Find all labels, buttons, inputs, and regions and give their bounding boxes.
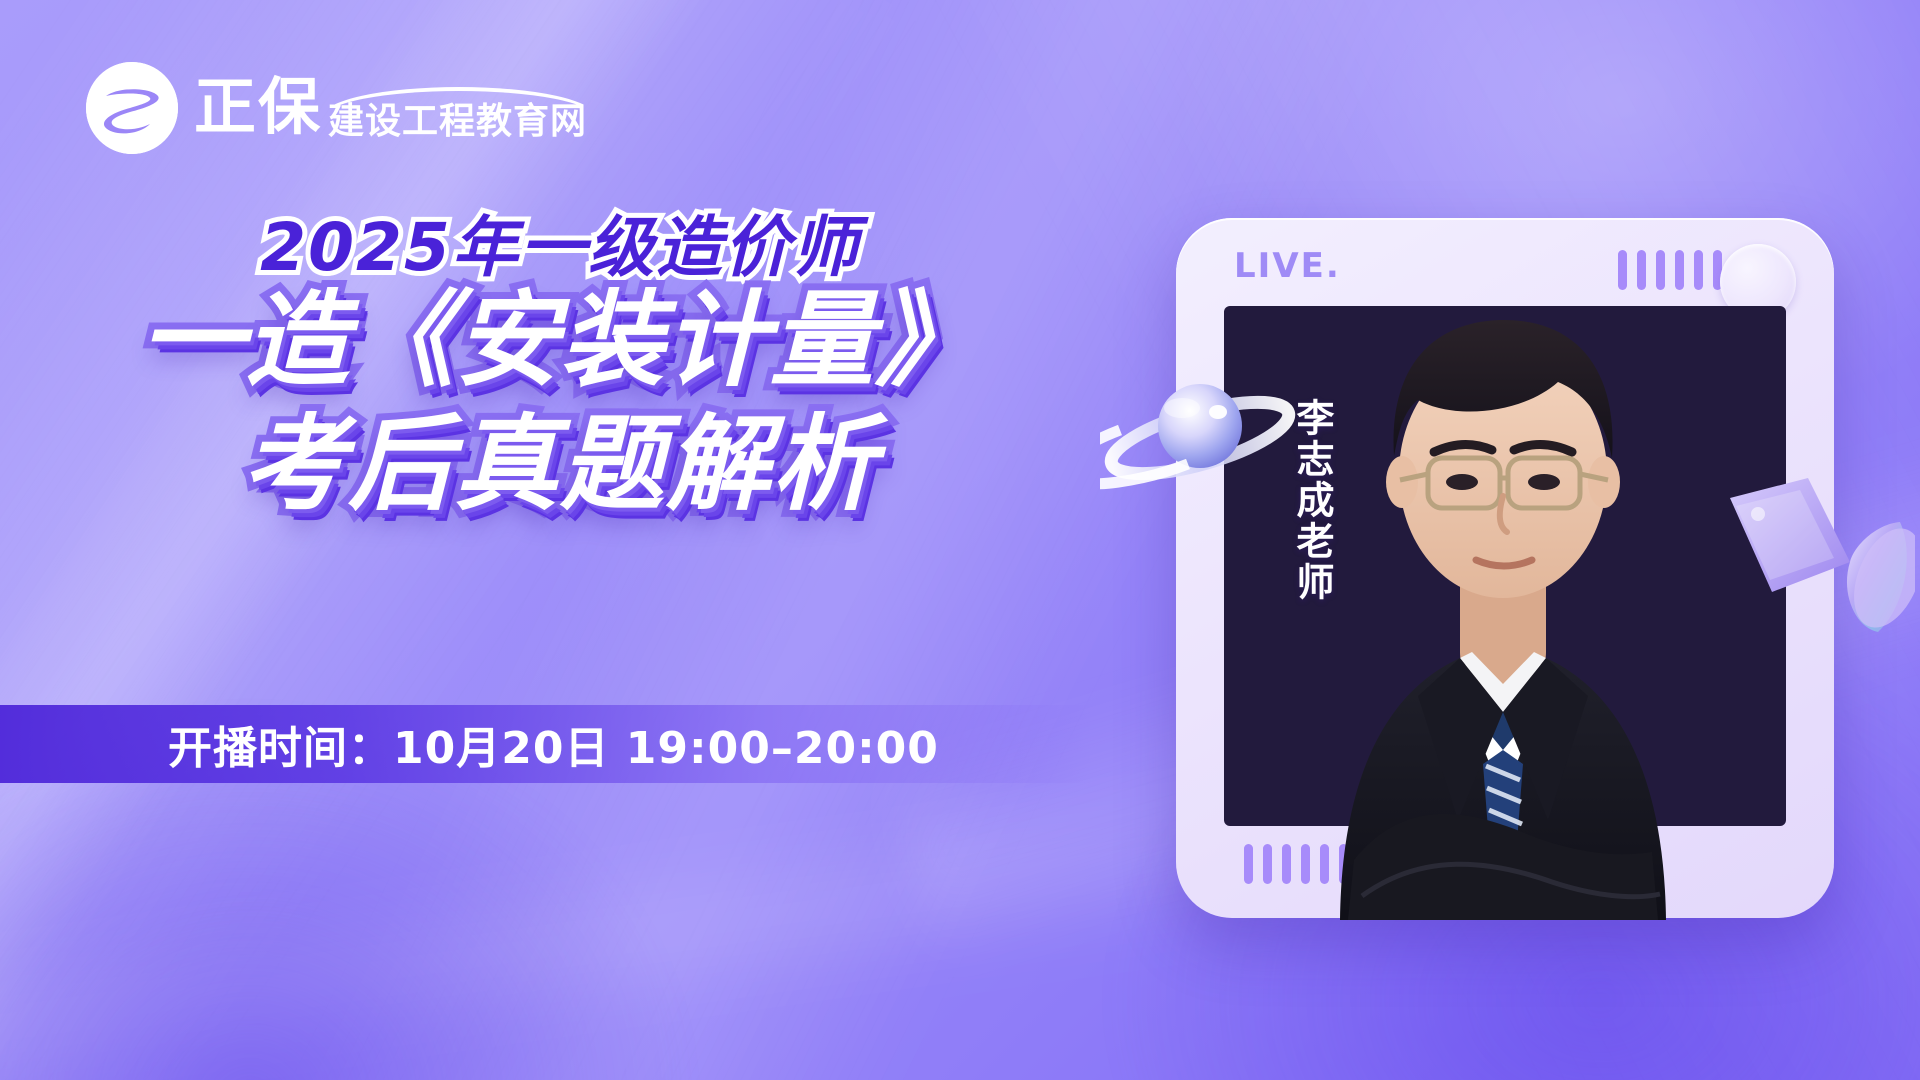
- headline-line-1: 2025年一级造价师: [0, 215, 1120, 281]
- schedule-band: 开播时间：10月20日 19:00–20:00: [0, 705, 1090, 783]
- headline-block: 2025年一级造价师 一造《安装计量》 考后真题解析: [0, 215, 1120, 517]
- saturn-planet-icon: [1100, 368, 1300, 498]
- brand-logo-text: 正保 建设工程教育网: [194, 77, 587, 139]
- headline-line-2: 一造《安装计量》: [0, 287, 1120, 393]
- headline-line-3: 考后真题解析: [0, 411, 1120, 517]
- zhengbao-circle-z-logo-icon: [86, 62, 178, 154]
- live-promo-banner: 正保 建设工程教育网 2025年一级造价师 一造《安装计量》 考后真题解析 开播…: [0, 0, 1920, 1080]
- schedule-text: 开播时间：10月20日 19:00–20:00: [0, 712, 939, 776]
- megaphone-icon: [1700, 470, 1915, 665]
- logo-arc-decoration: [322, 87, 596, 117]
- brand-logo[interactable]: 正保 建设工程教育网: [86, 62, 587, 154]
- brand-name: 正保: [194, 77, 322, 139]
